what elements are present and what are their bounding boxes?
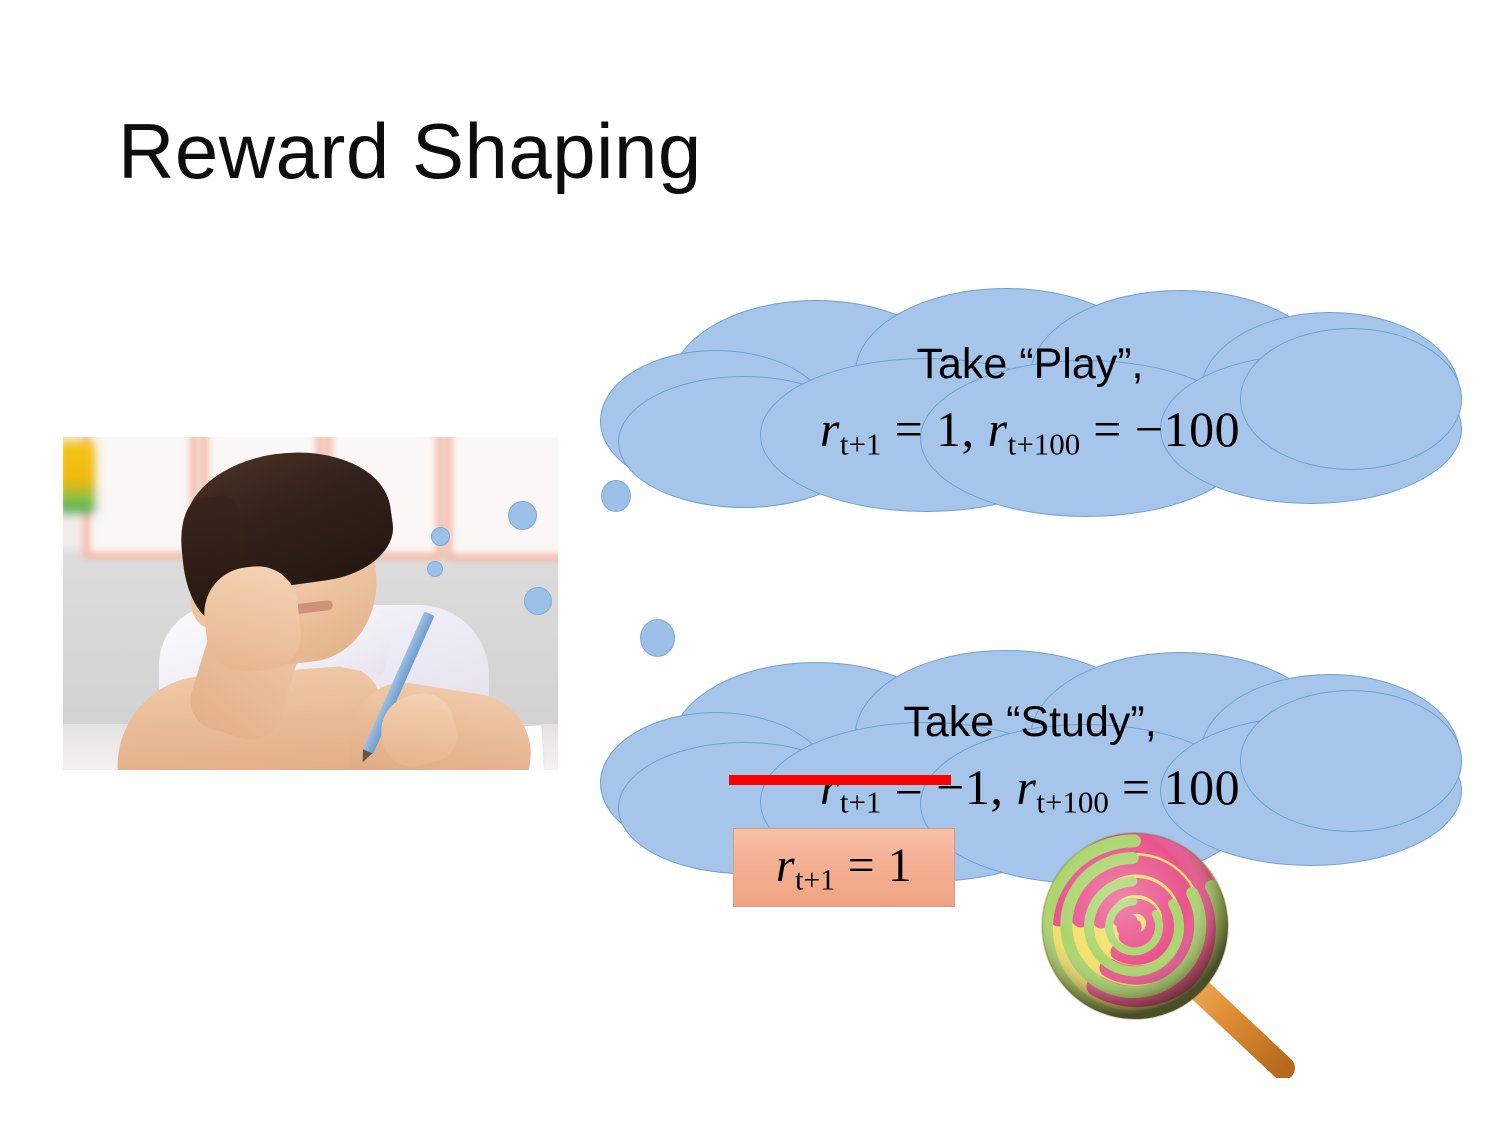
bubble-study-line1: Take “Study”, (600, 698, 1460, 747)
thought-dot-4 (524, 587, 552, 615)
bubble-play-formula: rt+1 = 1, rt+100 = −100 (600, 400, 1460, 463)
reward-shaping-callout-box: rt+1 = 1 (733, 828, 955, 907)
thought-dot-1 (508, 501, 537, 530)
callout-var: r (776, 839, 795, 892)
thought-bubble-study: Take “Study”, rt+1 = −1, rt+100 = 100 (600, 650, 1460, 882)
formula-sub-2: t+100 (1036, 785, 1109, 820)
lollipop-icon (1035, 828, 1305, 1078)
red-strikethrough-line (729, 775, 951, 785)
boy-thinking-photo (63, 437, 558, 770)
photo-poster-4 (445, 437, 558, 561)
callout-eq: = 1 (835, 839, 912, 892)
callout-formula: rt+1 = 1 (776, 838, 912, 897)
thought-dot-3 (427, 561, 443, 577)
formula-var-r2: r (1016, 759, 1036, 815)
bubble-play-line1: Take “Play”, (600, 340, 1460, 389)
thought-dot-2 (431, 527, 450, 546)
callout-sub: t+1 (795, 863, 835, 896)
formula-var-r1: r (820, 759, 840, 815)
formula-var-r1: r (820, 401, 840, 457)
formula-eq-2: = 100 (1109, 759, 1240, 815)
page-title: Reward Shaping (118, 112, 702, 190)
formula-eq-1: = −1, (881, 759, 1016, 815)
thought-bubble-play: Take “Play”, rt+1 = 1, rt+100 = −100 (600, 288, 1460, 513)
photo-poster-1 (83, 437, 197, 559)
slide-canvas: Reward Shaping (0, 0, 1500, 1125)
photo-crayon-blur (63, 441, 95, 513)
formula-sub-2: t+100 (1008, 427, 1081, 462)
formula-eq-1: = 1, (881, 401, 987, 457)
formula-var-r2: r (988, 401, 1008, 457)
bubble-study-formula: rt+1 = −1, rt+100 = 100 (600, 758, 1460, 821)
formula-sub-1: t+1 (840, 785, 882, 820)
formula-sub-1: t+1 (840, 427, 882, 462)
formula-eq-2: = −100 (1080, 401, 1240, 457)
